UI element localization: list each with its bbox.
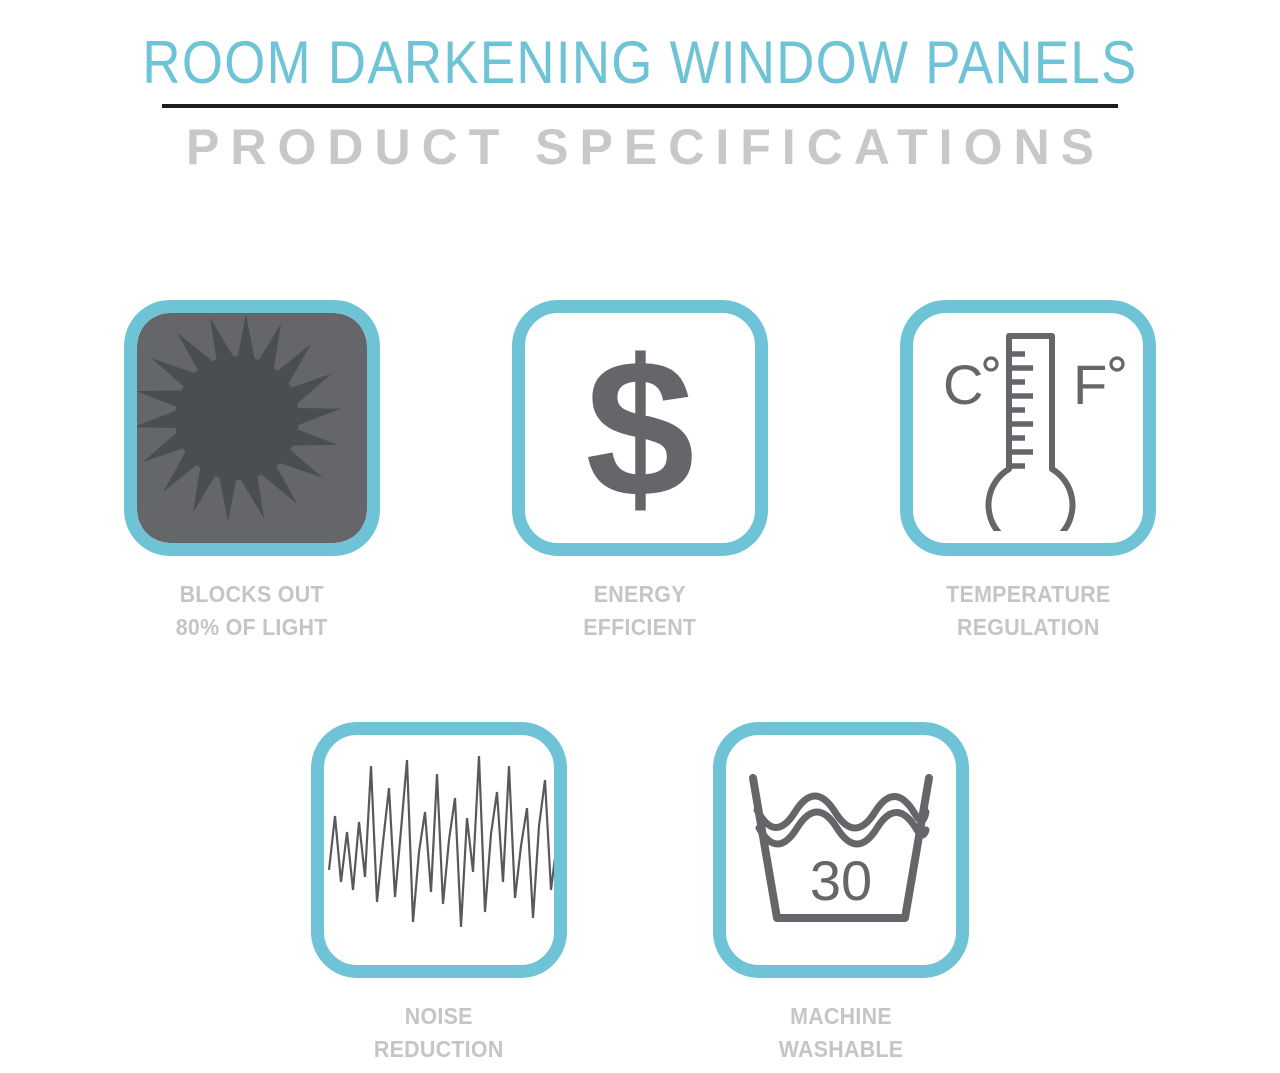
caption-line-1: TEMPERATURE bbox=[946, 581, 1110, 607]
page-title: ROOM DARKENING WINDOW PANELS bbox=[77, 28, 1203, 98]
feature-machine-washable[interactable]: 30 MACHINE WASHABLE bbox=[640, 722, 1042, 1066]
feature-card-noise-reduction[interactable] bbox=[311, 722, 567, 978]
fahrenheit-label: F bbox=[1073, 353, 1107, 416]
caption-line-2: EFFICIENT bbox=[583, 611, 696, 644]
feature-grid: BLOCKS OUT 80% OF LIGHT $ ENERGY EFFICIE… bbox=[0, 300, 1280, 1066]
page-subtitle: PRODUCT SPECIFICATIONS bbox=[0, 116, 1280, 178]
feature-card-energy-efficient[interactable]: $ bbox=[512, 300, 768, 556]
caption-line-2: REDUCTION bbox=[374, 1033, 504, 1066]
svg-text:$: $ bbox=[585, 328, 694, 528]
dollar-sign-icon: $ bbox=[565, 328, 715, 528]
caption-line-1: MACHINE bbox=[790, 1003, 892, 1029]
caption-line-1: ENERGY bbox=[594, 581, 686, 607]
celsius-label: C bbox=[943, 353, 983, 416]
degree-symbol-celsius bbox=[985, 358, 997, 370]
title-divider bbox=[162, 104, 1118, 108]
caption-line-1: BLOCKS OUT bbox=[180, 581, 324, 607]
caption-line-2: WASHABLE bbox=[779, 1033, 904, 1066]
feature-row-1: BLOCKS OUT 80% OF LIGHT $ ENERGY EFFICIE… bbox=[0, 300, 1280, 644]
feature-caption: MACHINE WASHABLE bbox=[779, 1000, 904, 1066]
feature-caption: TEMPERATURE REGULATION bbox=[946, 578, 1110, 644]
degree-symbol-fahrenheit bbox=[1111, 358, 1123, 370]
feature-caption: NOISE REDUCTION bbox=[374, 1000, 504, 1066]
feature-card-temperature-regulation[interactable]: C F bbox=[900, 300, 1156, 556]
thermometer-icon: C F bbox=[921, 326, 1136, 531]
feature-noise-reduction[interactable]: NOISE REDUCTION bbox=[238, 722, 640, 1066]
caption-line-2: 80% OF LIGHT bbox=[176, 611, 328, 644]
wash-tub-icon: 30 bbox=[743, 768, 939, 932]
page-header: ROOM DARKENING WINDOW PANELS PRODUCT SPE… bbox=[0, 0, 1280, 178]
caption-line-2: REGULATION bbox=[946, 611, 1110, 644]
feature-temperature-regulation[interactable]: C F TEMPERATURE REGULATION bbox=[834, 300, 1222, 644]
feature-caption: BLOCKS OUT 80% OF LIGHT bbox=[176, 578, 328, 644]
feature-energy-efficient[interactable]: $ ENERGY EFFICIENT bbox=[446, 300, 834, 644]
feature-row-2: NOISE REDUCTION 30 MACHINE WASHABLE bbox=[0, 722, 1280, 1066]
sun-blocked-icon bbox=[137, 313, 367, 543]
sound-wave-icon bbox=[311, 722, 567, 978]
wash-temperature-label: 30 bbox=[810, 849, 872, 912]
feature-card-machine-washable[interactable]: 30 bbox=[713, 722, 969, 978]
feature-card-blocks-out-light[interactable] bbox=[124, 300, 380, 556]
caption-line-1: NOISE bbox=[405, 1003, 473, 1029]
feature-caption: ENERGY EFFICIENT bbox=[583, 578, 696, 644]
feature-blocks-out-light[interactable]: BLOCKS OUT 80% OF LIGHT bbox=[58, 300, 446, 644]
